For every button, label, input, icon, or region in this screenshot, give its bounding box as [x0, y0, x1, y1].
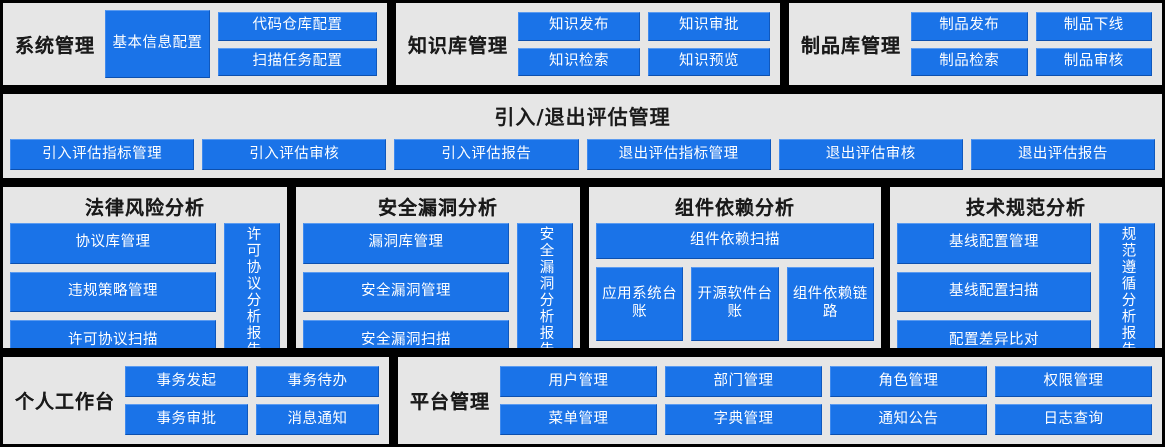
button-baseline-config-mgmt[interactable]: 基线配置管理 [897, 223, 1091, 264]
button-config-difference-compare[interactable]: 配置差异比对 [897, 320, 1091, 351]
knowledge-column-a: 知识发布 知识检索 [518, 3, 640, 85]
button-security-vulnerability-mgmt[interactable]: 安全漏洞管理 [303, 272, 509, 313]
panel-title-platform-management: 平台管理 [398, 387, 500, 414]
platform-management-buttons: 用户管理 菜单管理 部门管理 字典管理 角色管理 通知公告 权限管理 日志查询 [500, 357, 1162, 444]
button-license-library-mgmt[interactable]: 协议库管理 [10, 223, 216, 264]
button-basic-info-config[interactable]: 基本信息配置 [105, 10, 210, 78]
vulnerability-report-side: 安全漏洞分析报告 [517, 223, 573, 351]
component-button-group: 组件依赖扫描 应用系统台账 开源软件台账 组件依赖链路 [596, 223, 874, 341]
button-user-management[interactable]: 用户管理 [500, 366, 657, 397]
button-knowledge-publish[interactable]: 知识发布 [518, 12, 640, 41]
legal-risk-report-side: 许可协议分析报告 [224, 223, 280, 351]
row-top-modules: 系统管理 基本信息配置 代码仓库配置 扫描任务配置 知识库管理 知识发布 知识检… [0, 0, 1165, 88]
product-column-b: 制品下线 制品审核 [1036, 3, 1153, 85]
button-baseline-config-scan[interactable]: 基线配置扫描 [897, 272, 1091, 313]
panel-personal-workbench: 个人工作台 事务发起 事务审批 事务待办 消息通知 [0, 354, 392, 447]
button-product-audit[interactable]: 制品审核 [1036, 48, 1153, 77]
button-license-analysis-report[interactable]: 许可协议分析报告 [224, 223, 280, 351]
button-exit-eval-review[interactable]: 退出评估审核 [779, 139, 963, 170]
technical-spec-body: 基线配置管理 基线配置扫描 配置差异比对 规范遵循分析报告 [897, 222, 1155, 351]
panel-component-dependency-analysis: 组件依赖分析 组件依赖扫描 应用系统台账 开源软件台账 组件依赖链路 [586, 184, 884, 351]
technical-spec-button-stack: 基线配置管理 基线配置扫描 配置差异比对 [897, 223, 1091, 351]
platform-column-c: 角色管理 通知公告 [830, 357, 987, 444]
button-vulnerability-analysis-report[interactable]: 安全漏洞分析报告 [517, 223, 573, 351]
panel-product-repository-management: 制品库管理 制品发布 制品检索 制品下线 制品审核 [786, 0, 1165, 88]
product-column-a: 制品发布 制品检索 [911, 3, 1028, 85]
workbench-column-a: 事务发起 事务审批 [125, 357, 248, 444]
button-product-search[interactable]: 制品检索 [911, 48, 1028, 77]
panel-title-knowledge-base: 知识库管理 [396, 31, 518, 58]
button-notice-announcement[interactable]: 通知公告 [830, 404, 987, 435]
knowledge-base-buttons: 知识发布 知识检索 知识审批 知识预览 [518, 3, 780, 85]
button-dictionary-management[interactable]: 字典管理 [665, 404, 822, 435]
button-vulnerability-library-mgmt[interactable]: 漏洞库管理 [303, 223, 509, 264]
button-security-vulnerability-scan[interactable]: 安全漏洞扫描 [303, 320, 509, 351]
button-intro-eval-indicator-mgmt[interactable]: 引入评估指标管理 [10, 139, 194, 170]
button-exit-eval-report[interactable]: 退出评估报告 [971, 139, 1155, 170]
button-spec-compliance-analysis-report[interactable]: 规范遵循分析报告 [1099, 223, 1155, 351]
panel-intro-exit-evaluation: 引入/退出评估管理 引入评估指标管理 引入评估审核 引入评估报告 退出评估指标管… [0, 91, 1165, 181]
technical-spec-report-side: 规范遵循分析报告 [1099, 223, 1155, 351]
panel-technical-specification-analysis: 技术规范分析 基线配置管理 基线配置扫描 配置差异比对 规范遵循分析报告 [887, 184, 1165, 351]
button-task-todo[interactable]: 事务待办 [256, 366, 379, 397]
button-product-publish[interactable]: 制品发布 [911, 12, 1028, 41]
panel-title-product-repository: 制品库管理 [789, 31, 911, 58]
workbench-buttons: 事务发起 事务审批 事务待办 消息通知 [125, 357, 389, 444]
panel-legal-risk-analysis: 法律风险分析 协议库管理 违规策略管理 许可协议扫描 许可协议分析报告 [0, 184, 290, 351]
platform-column-d: 权限管理 日志查询 [995, 357, 1152, 444]
vulnerability-button-stack: 漏洞库管理 安全漏洞管理 安全漏洞扫描 [303, 223, 509, 351]
panel-security-vulnerability-analysis: 安全漏洞分析 漏洞库管理 安全漏洞管理 安全漏洞扫描 安全漏洞分析报告 [293, 184, 583, 351]
row-bottom-modules: 个人工作台 事务发起 事务审批 事务待办 消息通知 平台管理 用户管理 菜单管理 [0, 354, 1165, 447]
button-department-management[interactable]: 部门管理 [665, 366, 822, 397]
panel-title-system-management: 系统管理 [3, 31, 105, 58]
button-license-agreement-scan[interactable]: 许可协议扫描 [10, 320, 216, 351]
button-log-query[interactable]: 日志查询 [995, 404, 1152, 435]
panel-title-intro-exit-evaluation: 引入/退出评估管理 [3, 94, 1162, 130]
button-menu-management[interactable]: 菜单管理 [500, 404, 657, 435]
workbench-column-b: 事务待办 消息通知 [256, 357, 379, 444]
button-knowledge-approval[interactable]: 知识审批 [648, 12, 770, 41]
button-component-dependency-scan[interactable]: 组件依赖扫描 [596, 223, 874, 259]
button-product-offline[interactable]: 制品下线 [1036, 12, 1153, 41]
panel-title-security-vulnerability-analysis: 安全漏洞分析 [303, 187, 573, 222]
panel-platform-management: 平台管理 用户管理 菜单管理 部门管理 字典管理 角色管理 通知公告 权限管理 … [395, 354, 1165, 447]
button-task-initiate[interactable]: 事务发起 [125, 366, 248, 397]
evaluation-buttons: 引入评估指标管理 引入评估审核 引入评估报告 退出评估指标管理 退出评估审核 退… [3, 130, 1162, 170]
button-component-dependency-chain[interactable]: 组件依赖链路 [787, 267, 874, 341]
vulnerability-body: 漏洞库管理 安全漏洞管理 安全漏洞扫描 安全漏洞分析报告 [303, 222, 573, 351]
platform-column-a: 用户管理 菜单管理 [500, 357, 657, 444]
panel-title-personal-workbench: 个人工作台 [3, 387, 125, 414]
row-evaluation-management: 引入/退出评估管理 引入评估指标管理 引入评估审核 引入评估报告 退出评估指标管… [0, 91, 1165, 181]
button-intro-eval-review[interactable]: 引入评估审核 [202, 139, 386, 170]
platform-column-b: 部门管理 字典管理 [665, 357, 822, 444]
button-task-approval[interactable]: 事务审批 [125, 404, 248, 435]
panel-title-technical-specification-analysis: 技术规范分析 [897, 187, 1155, 222]
panel-knowledge-base-management: 知识库管理 知识发布 知识检索 知识审批 知识预览 [393, 0, 783, 88]
component-bottom-buttons: 应用系统台账 开源软件台账 组件依赖链路 [596, 267, 874, 341]
knowledge-column-b: 知识审批 知识预览 [648, 3, 770, 85]
button-message-notification[interactable]: 消息通知 [256, 404, 379, 435]
button-knowledge-search[interactable]: 知识检索 [518, 48, 640, 77]
legal-risk-button-stack: 协议库管理 违规策略管理 许可协议扫描 [10, 223, 216, 351]
button-scan-task-config[interactable]: 扫描任务配置 [218, 48, 377, 77]
button-open-source-software-ledger[interactable]: 开源软件台账 [691, 267, 778, 341]
button-permission-management[interactable]: 权限管理 [995, 366, 1152, 397]
system-management-buttons: 基本信息配置 代码仓库配置 扫描任务配置 [105, 3, 387, 85]
system-management-button-stack: 代码仓库配置 扫描任务配置 [218, 3, 377, 85]
button-violation-policy-mgmt[interactable]: 违规策略管理 [10, 272, 216, 313]
button-code-repo-config[interactable]: 代码仓库配置 [218, 12, 377, 41]
panel-title-component-dependency-analysis: 组件依赖分析 [596, 187, 874, 222]
button-intro-eval-report[interactable]: 引入评估报告 [394, 139, 578, 170]
button-application-system-ledger[interactable]: 应用系统台账 [596, 267, 683, 341]
panel-system-management: 系统管理 基本信息配置 代码仓库配置 扫描任务配置 [0, 0, 390, 88]
legal-risk-body: 协议库管理 违规策略管理 许可协议扫描 许可协议分析报告 [10, 222, 280, 351]
row-analysis-modules: 法律风险分析 协议库管理 违规策略管理 许可协议扫描 许可协议分析报告 安全漏洞… [0, 184, 1165, 351]
panel-title-legal-risk-analysis: 法律风险分析 [10, 187, 280, 222]
button-knowledge-preview[interactable]: 知识预览 [648, 48, 770, 77]
button-role-management[interactable]: 角色管理 [830, 366, 987, 397]
system-architecture-board: 系统管理 基本信息配置 代码仓库配置 扫描任务配置 知识库管理 知识发布 知识检… [0, 0, 1165, 447]
button-exit-eval-indicator-mgmt[interactable]: 退出评估指标管理 [587, 139, 771, 170]
component-body: 组件依赖扫描 应用系统台账 开源软件台账 组件依赖链路 [596, 222, 874, 341]
product-repository-buttons: 制品发布 制品检索 制品下线 制品审核 [911, 3, 1162, 85]
